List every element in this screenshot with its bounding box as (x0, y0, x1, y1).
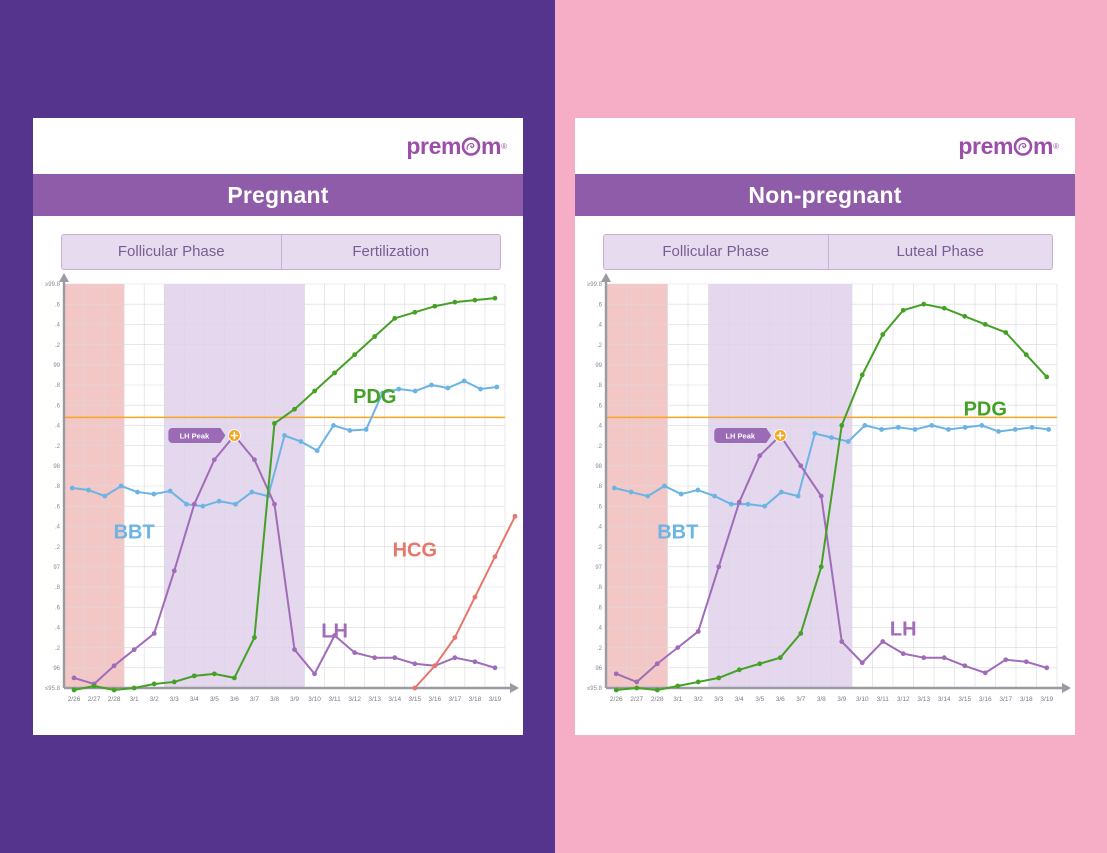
data-point-hcg (493, 554, 498, 559)
data-point-pdg (1024, 352, 1029, 357)
y-axis-tick-label: .2 (55, 343, 61, 349)
data-point-pdg (332, 370, 337, 375)
data-point-bbt (315, 448, 320, 453)
x-axis-tick-label: 3/18 (1020, 696, 1033, 703)
data-point-bbt (396, 387, 401, 392)
data-point-bbt (896, 425, 901, 430)
data-point-lh (192, 502, 197, 507)
y-axis-tick-label: ≥99.8 (45, 282, 61, 288)
data-point-bbt (729, 502, 734, 507)
x-axis-tick-label: 3/18 (469, 696, 482, 703)
y-axis-tick-label: .8 (55, 585, 61, 591)
data-point-lh (921, 655, 926, 660)
data-point-pdg (272, 421, 277, 426)
hormone-chart-non-pregnant: ≥99.8.6.4.299.8.6.4.298.8.6.4.297.8.6.4.… (575, 270, 1075, 730)
y-axis-tick-label: .6 (597, 403, 603, 409)
x-axis-tick-label: 3/11 (877, 696, 890, 703)
y-axis-tick-label: .2 (597, 646, 603, 652)
data-point-pdg (1003, 330, 1008, 335)
x-axis-tick-label: 3/6 (776, 696, 785, 703)
data-point-pdg (132, 686, 137, 691)
data-point-pdg (92, 684, 97, 689)
x-axis-tick-label: 3/17 (449, 696, 462, 703)
x-axis-tick-label: 3/16 (429, 696, 442, 703)
data-point-lh (452, 655, 457, 660)
data-point-pdg (983, 322, 988, 327)
data-point-lh (473, 659, 478, 664)
y-axis-tick-label: .8 (597, 585, 603, 591)
data-point-bbt (233, 502, 238, 507)
data-point-lh (272, 502, 277, 507)
y-axis-arrow (59, 273, 69, 282)
y-axis-tick-label: 96 (595, 666, 602, 672)
card-title-bar-pregnant: Pregnant (33, 174, 523, 216)
phase-cell-follicular: Follicular Phase (62, 235, 281, 269)
y-axis-tick-label: ≤95.8 (45, 686, 61, 692)
data-point-pdg (372, 334, 377, 339)
data-point-bbt (1013, 427, 1018, 432)
data-point-bbt (298, 439, 303, 444)
data-point-lh (72, 676, 77, 681)
data-point-lh (819, 494, 824, 499)
data-point-lh (412, 661, 417, 666)
x-axis-arrow (510, 683, 519, 693)
x-axis-tick-label: 2/28 (108, 696, 121, 703)
y-axis-tick-label: ≥99.8 (587, 282, 603, 288)
data-point-pdg (757, 661, 762, 666)
data-point-bbt (347, 428, 352, 433)
data-point-pdg (675, 684, 680, 689)
data-point-bbt (462, 379, 467, 384)
y-axis-tick-label: .2 (55, 646, 61, 652)
x-axis-tick-label: 3/14 (388, 696, 401, 703)
data-point-lh (172, 568, 177, 573)
card-header-non-pregnant: prem m® (575, 118, 1075, 174)
data-point-pdg (880, 332, 885, 337)
data-point-pdg (412, 310, 417, 315)
x-axis-tick-label: 3/5 (210, 696, 219, 703)
data-point-lh (352, 650, 357, 655)
lh-peak-badge-label: LH Peak (725, 432, 755, 441)
series-label-bbt: BBT (114, 522, 155, 544)
data-point-lh (880, 639, 885, 644)
y-axis-tick-label: .4 (597, 424, 603, 430)
x-axis-tick-label: 2/28 (651, 696, 664, 703)
data-point-pdg (778, 655, 783, 660)
data-point-pdg (432, 304, 437, 309)
y-axis-tick-label: .2 (597, 444, 603, 450)
y-axis-tick-label: 96 (53, 666, 60, 672)
data-point-lh (1024, 659, 1029, 664)
y-axis-tick-label: .4 (597, 525, 603, 531)
data-point-bbt (829, 435, 834, 440)
x-axis-tick-label: 3/12 (348, 696, 361, 703)
data-point-pdg (819, 564, 824, 569)
chart-container-pregnant: ≥99.8.6.4.299.8.6.4.298.8.6.4.297.8.6.4.… (33, 270, 523, 730)
data-point-pdg (901, 308, 906, 313)
page-title-pregnant: Pregnant (227, 182, 328, 209)
data-point-lh (675, 645, 680, 650)
data-point-bbt (879, 427, 884, 432)
series-label-lh: LH (321, 621, 348, 643)
y-axis-tick-label: .8 (597, 484, 603, 490)
data-point-lh (152, 631, 157, 636)
data-point-bbt (629, 490, 634, 495)
page-title-non-pregnant: Non-pregnant (748, 182, 901, 209)
data-point-bbt (996, 429, 1001, 434)
y-axis-tick-label: .4 (55, 424, 61, 430)
data-point-lh (962, 663, 967, 668)
x-axis-tick-label: 3/11 (329, 696, 342, 703)
data-point-pdg (212, 671, 217, 676)
data-point-bbt (779, 490, 784, 495)
x-axis-tick-label: 3/8 (270, 696, 279, 703)
data-point-pdg (1044, 375, 1049, 380)
registered-mark: ® (501, 142, 507, 151)
y-axis-tick-label: .4 (55, 525, 61, 531)
y-axis-tick-label: 98 (53, 464, 60, 470)
data-point-lh (798, 463, 803, 468)
y-axis-tick-label: .6 (55, 605, 61, 611)
data-point-lh (655, 661, 660, 666)
x-axis-tick-label: 3/10 (308, 696, 321, 703)
phase-cell-luteal: Luteal Phase (828, 235, 1053, 269)
premom-logo: prem m® (958, 135, 1059, 158)
chart-container-non-pregnant: ≥99.8.6.4.299.8.6.4.298.8.6.4.297.8.6.4.… (575, 270, 1075, 730)
x-axis-tick-label: 3/2 (150, 696, 159, 703)
lh-peak-badge-label: LH Peak (180, 432, 210, 441)
data-point-pdg (716, 676, 721, 681)
x-axis-arrow (1062, 683, 1071, 693)
data-point-pdg (392, 316, 397, 321)
data-point-bbt (796, 494, 801, 499)
data-point-bbt (746, 502, 751, 507)
x-axis-tick-label: 3/14 (938, 696, 951, 703)
data-point-lh (1044, 665, 1049, 670)
data-point-lh (860, 660, 865, 665)
data-point-bbt (249, 490, 254, 495)
x-axis-tick-label: 3/1 (130, 696, 139, 703)
y-axis-tick-label: .2 (597, 343, 603, 349)
data-point-bbt (913, 427, 918, 432)
data-point-lh (983, 670, 988, 675)
y-axis-tick-label: .2 (55, 545, 61, 551)
y-axis-tick-label: .2 (597, 545, 603, 551)
data-point-pdg (839, 423, 844, 428)
y-axis-tick-label: .6 (55, 302, 61, 308)
y-axis-tick-label: ≤95.8 (587, 686, 603, 692)
logo-text-pre: prem (406, 133, 461, 159)
x-axis-tick-label: 3/19 (1040, 696, 1053, 703)
data-point-bbt (282, 433, 287, 438)
data-point-pdg (962, 314, 967, 319)
data-point-bbt (217, 499, 222, 504)
x-axis-tick-label: 3/17 (999, 696, 1012, 703)
logo-text-pre: prem (958, 133, 1013, 159)
x-axis-tick-label: 3/13 (368, 696, 381, 703)
data-point-pdg (352, 352, 357, 357)
y-axis-tick-label: .6 (55, 403, 61, 409)
data-point-pdg (696, 680, 701, 685)
data-point-bbt (168, 489, 173, 494)
y-axis-tick-label: .6 (597, 504, 603, 510)
x-axis-tick-label: 3/4 (190, 696, 199, 703)
data-point-bbt (695, 488, 700, 493)
y-axis-tick-label: .4 (55, 323, 61, 329)
data-point-pdg (942, 306, 947, 311)
x-axis-tick-label: 3/10 (856, 696, 869, 703)
data-point-lh (493, 665, 498, 670)
x-axis-tick-label: 2/26 (610, 696, 623, 703)
data-point-lh (737, 500, 742, 505)
data-point-lh (212, 457, 217, 462)
series-label-lh: LH (890, 618, 917, 640)
x-axis-tick-label: 3/3 (170, 696, 179, 703)
data-point-bbt (184, 502, 189, 507)
x-axis-tick-label: 3/9 (837, 696, 846, 703)
x-axis-tick-label: 3/9 (290, 696, 299, 703)
logo-text-m: m (1033, 133, 1053, 159)
x-axis-tick-label: 3/15 (408, 696, 421, 703)
data-point-lh (132, 647, 137, 652)
premom-baby-icon (1013, 136, 1033, 156)
y-axis-arrow (601, 273, 611, 282)
x-axis-tick-label: 3/1 (673, 696, 682, 703)
data-point-pdg (473, 298, 478, 303)
phase-cell-follicular: Follicular Phase (604, 235, 828, 269)
data-point-bbt (712, 494, 717, 499)
data-point-bbt (1030, 425, 1035, 430)
y-axis-tick-label: .6 (55, 504, 61, 510)
y-axis-tick-label: .8 (597, 383, 603, 389)
data-point-pdg (252, 635, 257, 640)
y-axis-tick-label: .8 (55, 484, 61, 490)
data-point-lh (292, 647, 297, 652)
data-point-lh (757, 453, 762, 458)
y-axis-tick-label: .2 (55, 444, 61, 450)
data-point-bbt (494, 385, 499, 390)
premom-logo: prem m® (406, 135, 507, 158)
data-point-bbt (413, 389, 418, 394)
data-point-bbt (846, 439, 851, 444)
data-point-lh (312, 671, 317, 676)
x-axis-tick-label: 3/7 (796, 696, 805, 703)
y-axis-tick-label: .6 (597, 605, 603, 611)
data-point-pdg (614, 688, 619, 693)
y-axis-tick-label: .4 (55, 626, 61, 632)
data-point-bbt (478, 387, 483, 392)
data-point-lh (112, 663, 117, 668)
y-axis-tick-label: .4 (597, 323, 603, 329)
data-point-bbt (135, 490, 140, 495)
data-point-bbt (102, 494, 107, 499)
data-point-pdg (72, 688, 77, 693)
data-point-lh (252, 457, 257, 462)
data-point-lh (634, 680, 639, 685)
x-axis-tick-label: 3/19 (489, 696, 502, 703)
x-axis-tick-label: 3/6 (230, 696, 239, 703)
phase-bar-non-pregnant: Follicular Phase Luteal Phase (603, 234, 1053, 270)
card-pregnant: prem m® Pregnant Follicular Phase Fertil… (33, 118, 523, 735)
data-point-pdg (112, 688, 117, 693)
x-axis-tick-label: 3/13 (917, 696, 930, 703)
data-point-lh (716, 564, 721, 569)
x-axis-tick-label: 3/5 (755, 696, 764, 703)
phase-cell-fertilization: Fertilization (281, 235, 501, 269)
y-axis-tick-label: 97 (53, 565, 60, 571)
x-axis-tick-label: 2/27 (88, 696, 101, 703)
data-point-bbt (645, 494, 650, 499)
data-point-pdg (312, 389, 317, 394)
data-point-pdg (860, 373, 865, 378)
data-point-bbt (86, 488, 91, 493)
data-point-pdg (232, 676, 237, 681)
data-point-pdg (172, 680, 177, 685)
data-point-pdg (921, 302, 926, 307)
y-axis-tick-label: 99 (595, 363, 602, 369)
data-point-hcg (452, 635, 457, 640)
data-point-pdg (655, 688, 660, 693)
data-point-bbt (200, 504, 205, 509)
x-axis-tick-label: 3/4 (735, 696, 744, 703)
data-point-bbt (151, 492, 156, 497)
y-axis-tick-label: 97 (595, 565, 602, 571)
x-axis-tick-label: 3/16 (979, 696, 992, 703)
data-point-hcg (412, 686, 417, 691)
data-point-pdg (292, 407, 297, 412)
data-point-pdg (192, 673, 197, 678)
data-point-pdg (452, 300, 457, 305)
data-point-bbt (119, 484, 124, 489)
phase-bar-pregnant: Follicular Phase Fertilization (61, 234, 501, 270)
data-point-bbt (762, 504, 767, 509)
data-point-bbt (331, 423, 336, 428)
x-axis-tick-label: 2/26 (68, 696, 81, 703)
data-point-bbt (863, 423, 868, 428)
y-axis-tick-label: 99 (53, 363, 60, 369)
x-axis-tick-label: 3/7 (250, 696, 259, 703)
card-non-pregnant: prem m® Non-pregnant Follicular Phase Lu… (575, 118, 1075, 735)
data-point-bbt (364, 427, 369, 432)
x-axis-tick-label: 2/27 (630, 696, 643, 703)
series-label-bbt: BBT (657, 522, 698, 544)
data-point-pdg (493, 296, 498, 301)
data-point-hcg (473, 595, 478, 600)
data-point-bbt (445, 386, 450, 391)
data-point-lh (942, 655, 947, 660)
data-point-hcg (513, 514, 518, 519)
data-point-lh (696, 629, 701, 634)
data-point-pdg (152, 682, 157, 687)
data-point-bbt (946, 427, 951, 432)
data-point-bbt (70, 486, 75, 491)
registered-mark: ® (1053, 142, 1059, 151)
data-point-lh (1003, 657, 1008, 662)
data-point-bbt (929, 423, 934, 428)
card-header-pregnant: prem m® (33, 118, 523, 174)
data-point-lh (901, 651, 906, 656)
data-point-pdg (737, 667, 742, 672)
hormone-chart-pregnant: ≥99.8.6.4.299.8.6.4.298.8.6.4.297.8.6.4.… (33, 270, 523, 730)
data-point-lh (372, 655, 377, 660)
x-axis-tick-label: 3/3 (714, 696, 723, 703)
logo-text-m: m (481, 133, 501, 159)
data-point-bbt (679, 492, 684, 497)
card-title-bar-non-pregnant: Non-pregnant (575, 174, 1075, 216)
y-axis-tick-label: .8 (55, 383, 61, 389)
y-axis-tick-label: 98 (595, 464, 602, 470)
x-axis-tick-label: 3/8 (817, 696, 826, 703)
data-point-bbt (979, 423, 984, 428)
y-axis-tick-label: .4 (597, 626, 603, 632)
data-point-lh (392, 655, 397, 660)
series-label-pdg: PDG (964, 398, 1007, 420)
data-point-pdg (634, 686, 639, 691)
series-label-pdg: PDG (353, 386, 396, 408)
data-point-hcg (432, 663, 437, 668)
data-point-bbt (429, 383, 434, 388)
x-axis-tick-label: 3/12 (897, 696, 910, 703)
data-point-bbt (1046, 427, 1051, 432)
data-point-bbt (612, 486, 617, 491)
x-axis-tick-label: 3/2 (694, 696, 703, 703)
data-point-bbt (963, 425, 968, 430)
data-point-lh (839, 639, 844, 644)
premom-baby-icon (461, 136, 481, 156)
data-point-bbt (812, 431, 817, 436)
data-point-lh (614, 671, 619, 676)
y-axis-tick-label: .6 (597, 302, 603, 308)
series-label-hcg: HCG (393, 540, 437, 562)
data-point-pdg (798, 631, 803, 636)
data-point-bbt (662, 484, 667, 489)
x-axis-tick-label: 3/15 (958, 696, 971, 703)
